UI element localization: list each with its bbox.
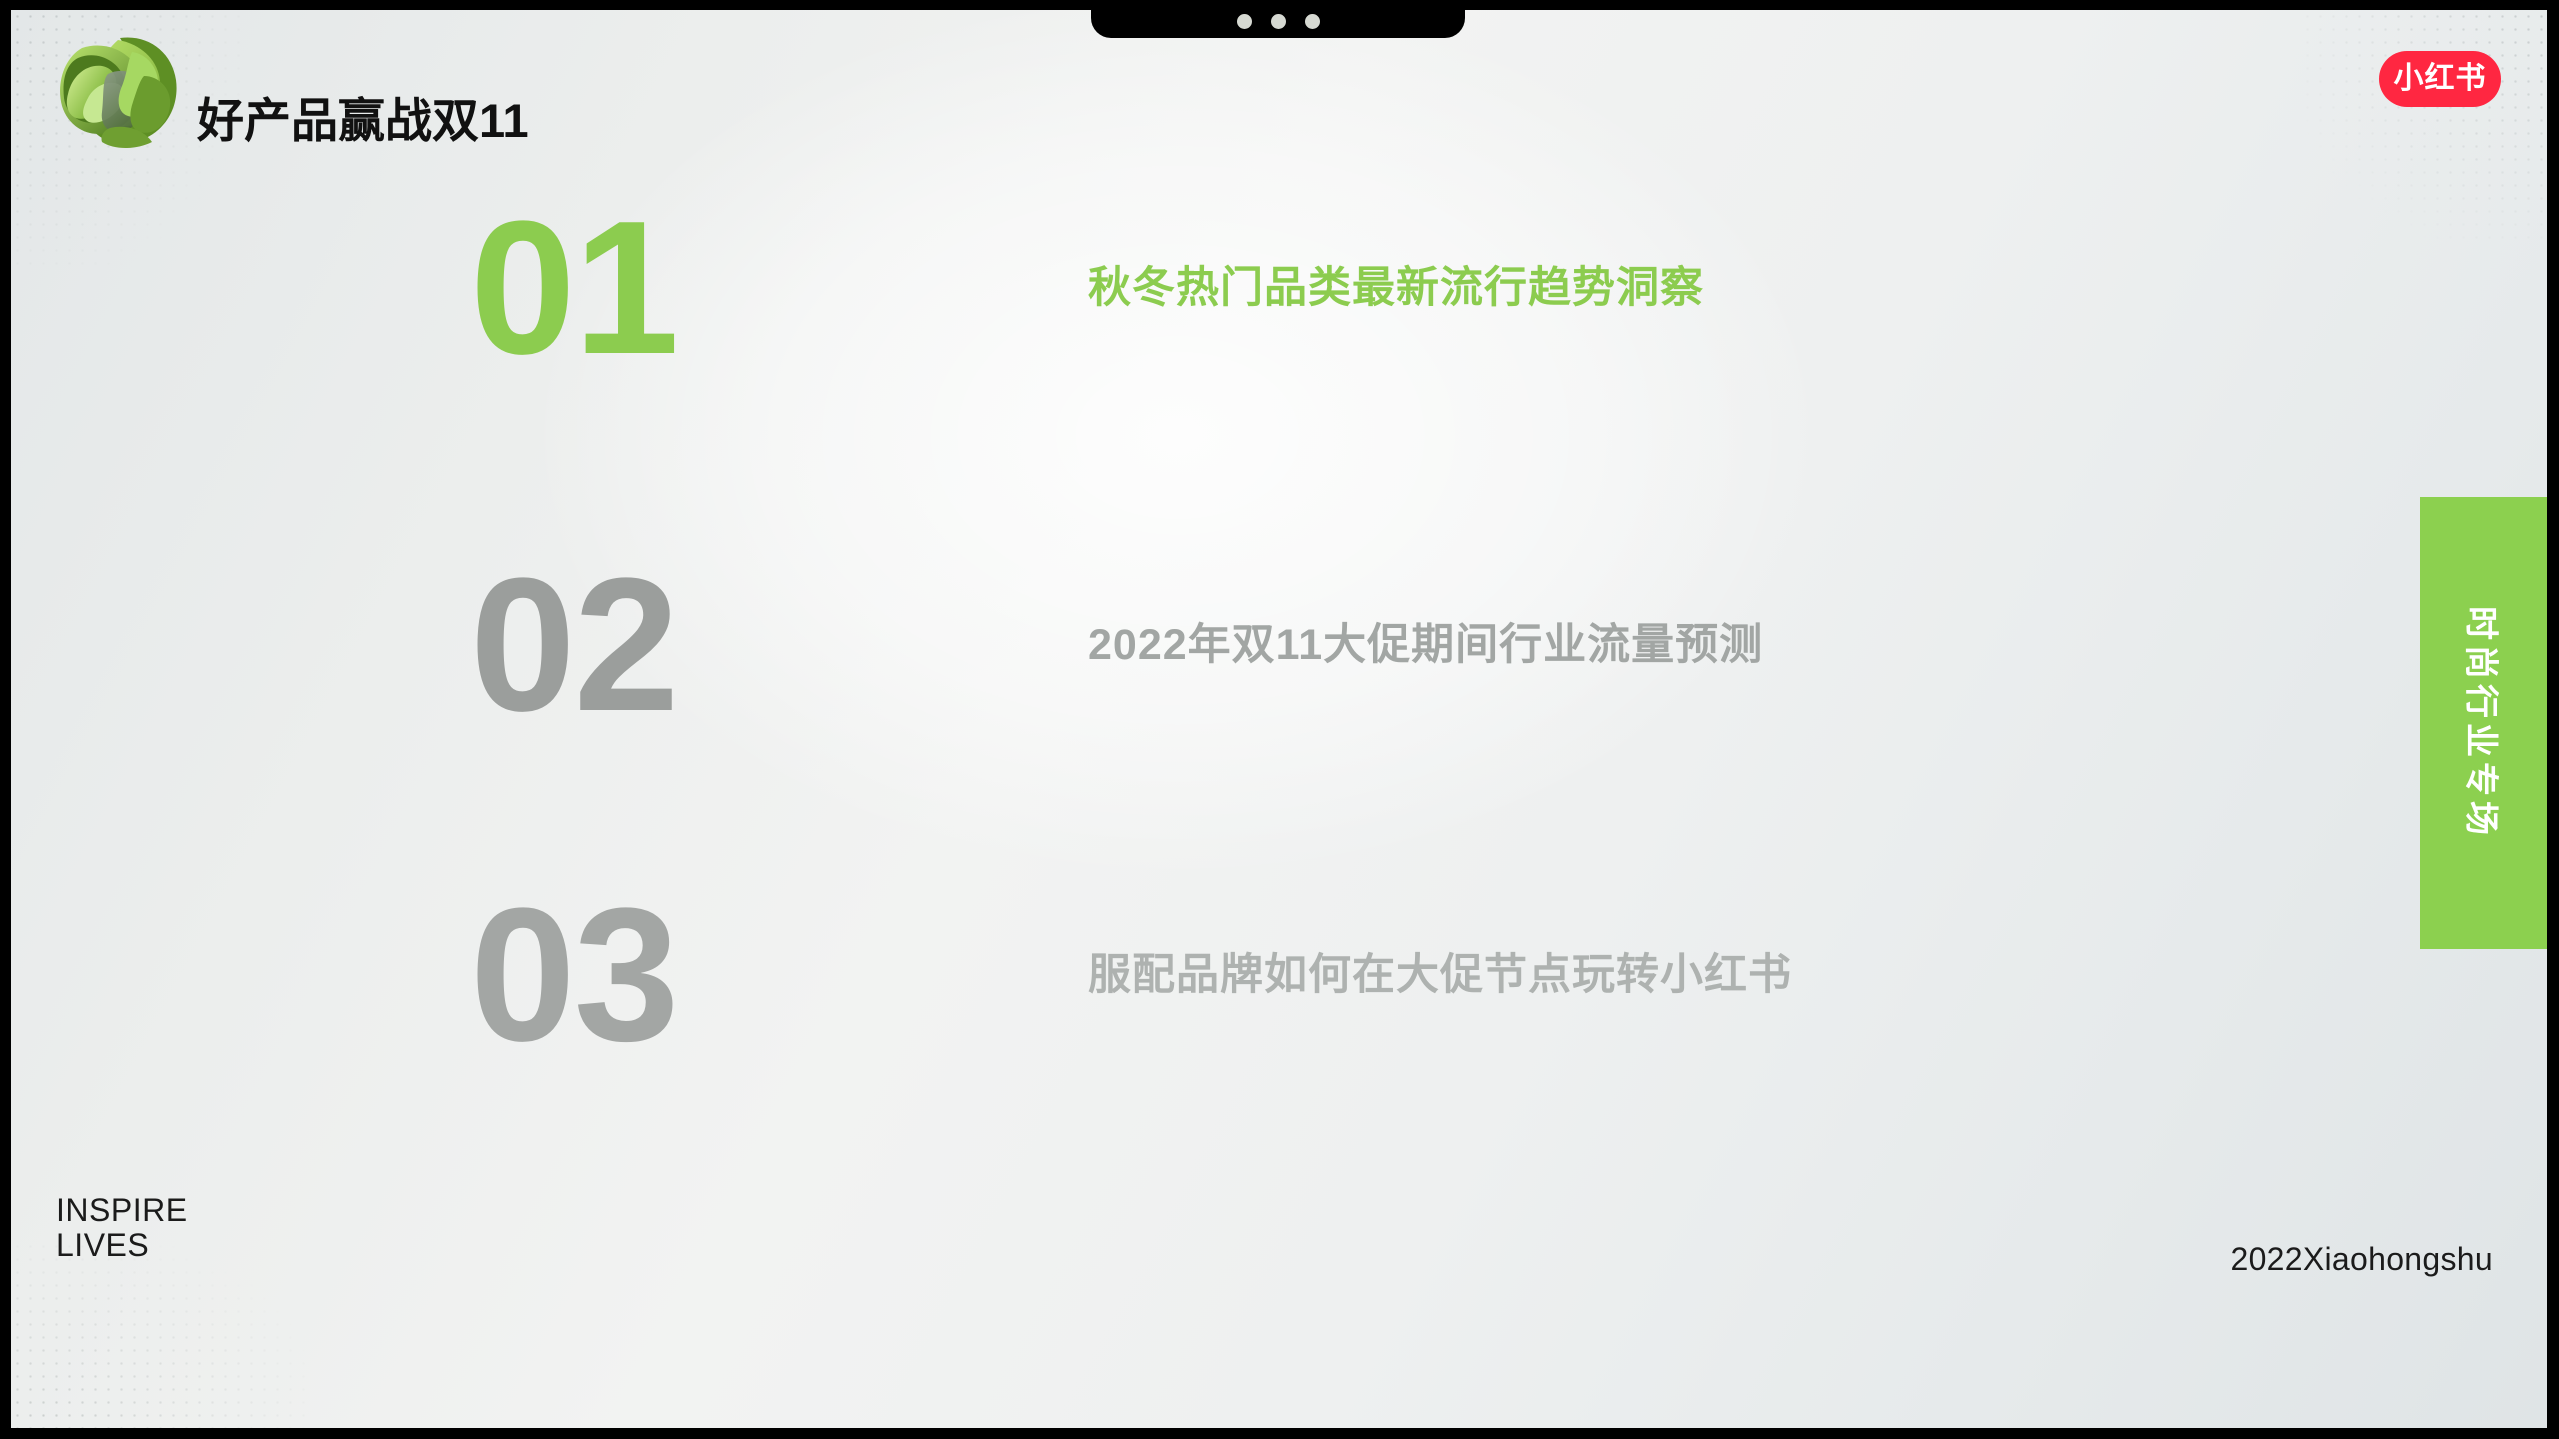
agenda-item-01[interactable]: 01 秋冬热门品类最新流行趋势洞察 — [11, 178, 2547, 398]
agenda-number: 01 — [470, 178, 677, 398]
agenda-number: 03 — [470, 865, 677, 1085]
agenda-item-02[interactable]: 02 2022年双11大促期间行业流量预测 — [11, 535, 2547, 755]
agenda-item-03[interactable]: 03 服配品牌如何在大促节点玩转小红书 — [11, 865, 2547, 1085]
tagline-line-1: INSPIRE — [56, 1193, 188, 1228]
slide-canvas: 好产品赢战双11 小红书 01 秋冬热门品类最新流行趋势洞察 02 2022年双… — [11, 10, 2547, 1428]
agenda-label: 服配品牌如何在大促节点玩转小红书 — [1088, 865, 1792, 1085]
notch-dot-2-icon — [1271, 14, 1286, 29]
footer-tagline: INSPIRE LIVES — [56, 1193, 188, 1263]
footer-copyright: 2022Xiaohongshu — [1783, 1241, 2493, 1278]
window-notch-bar — [1091, 0, 1465, 38]
agenda-label: 秋冬热门品类最新流行趋势洞察 — [1088, 178, 1704, 398]
agenda-number: 02 — [470, 535, 677, 755]
side-tab-fashion-session[interactable]: 时尚行业专场 — [2420, 497, 2547, 949]
presentation-window: 好产品赢战双11 小红书 01 秋冬热门品类最新流行趋势洞察 02 2022年双… — [0, 0, 2559, 1439]
agenda-label: 2022年双11大促期间行业流量预测 — [1088, 535, 1763, 755]
notch-dot-1-icon — [1237, 14, 1252, 29]
side-tab-label: 时尚行业专场 — [2459, 606, 2508, 840]
notch-dot-3-icon — [1305, 14, 1320, 29]
tagline-line-2: LIVES — [56, 1228, 188, 1263]
agenda-list: 01 秋冬热门品类最新流行趋势洞察 02 2022年双11大促期间行业流量预测 … — [11, 10, 2547, 1428]
